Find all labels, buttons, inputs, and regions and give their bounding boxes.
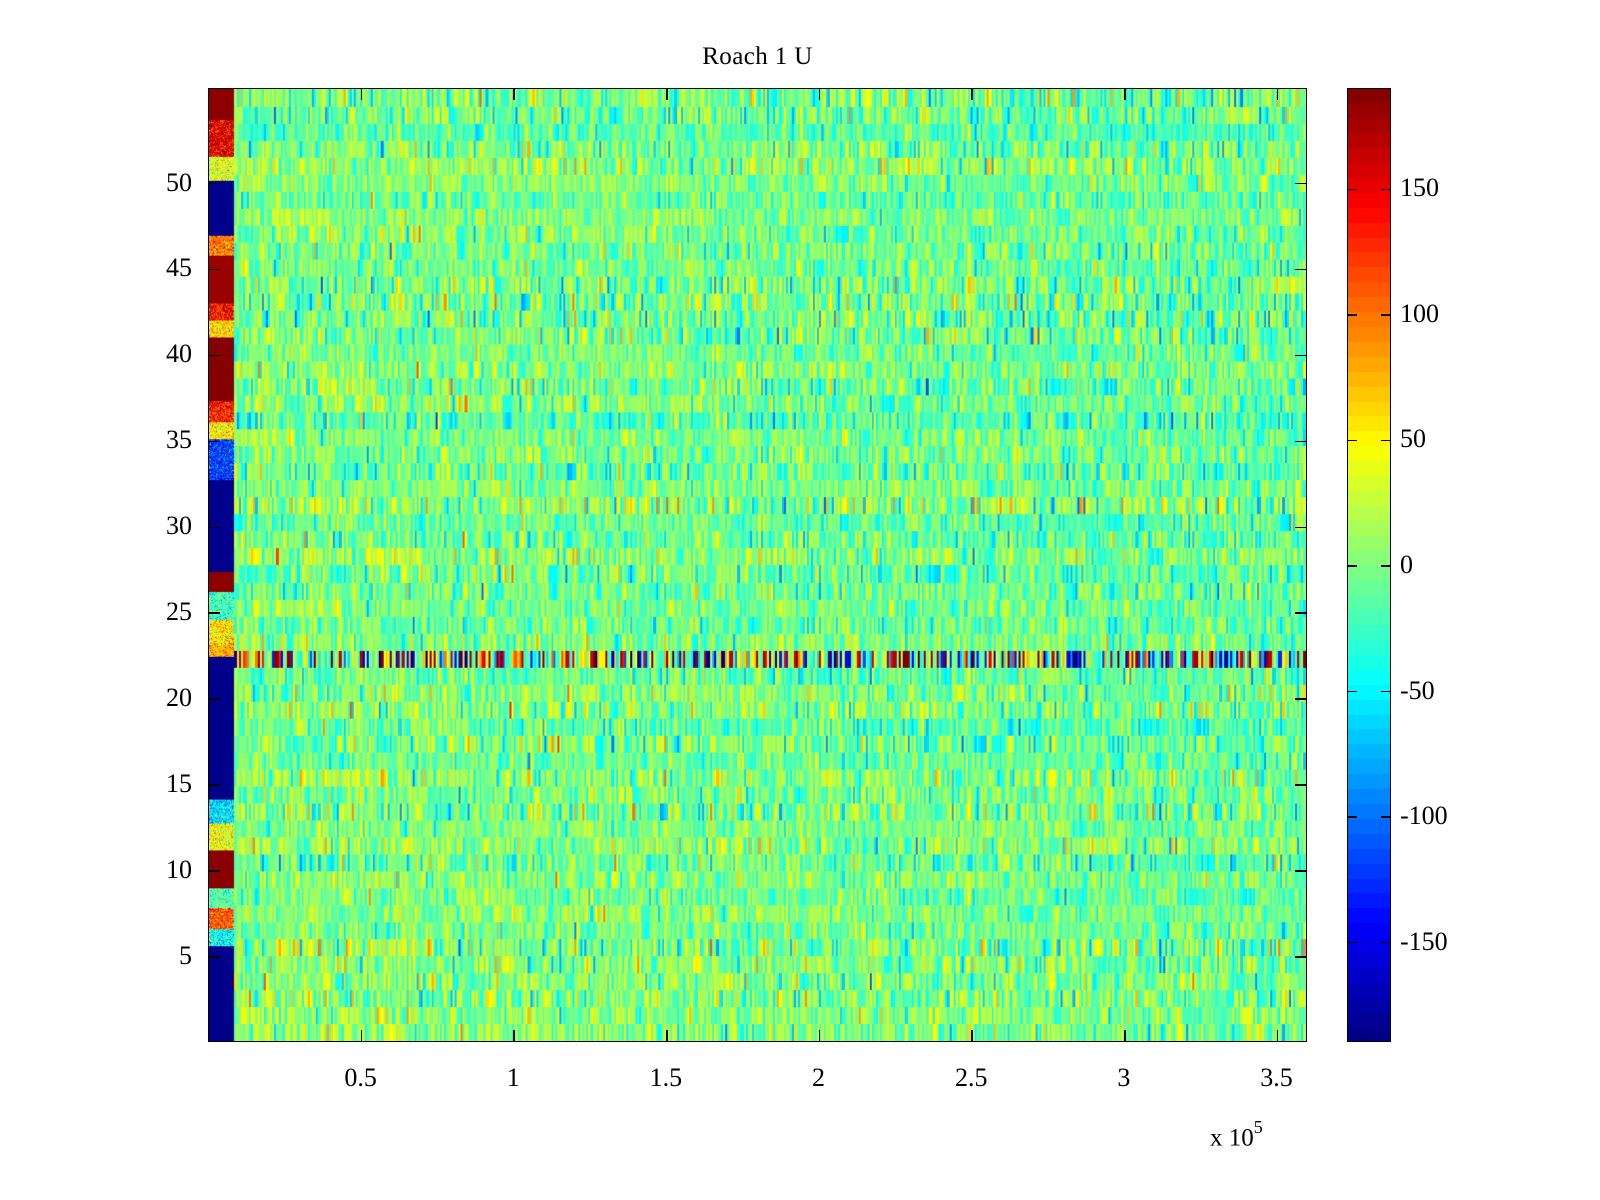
colorbar-tick-label: 50 [1400,426,1426,452]
x-axis-tick-label: 1 [468,1065,558,1091]
colorbar-tick-right [1381,816,1390,818]
y-axis-tick-right [1295,441,1306,443]
colorbar-tick [1348,314,1357,316]
figure-canvas: Roach 1 U 5101520253035404550 0.511.522.… [0,0,1600,1200]
x-axis-tick-label: 3.5 [1231,1065,1321,1091]
colorbar-tick-right [1381,440,1390,442]
colorbar-tick-label: 100 [1400,301,1439,327]
x-axis-tick-top [1124,89,1126,100]
x-axis-tick-label: 2 [774,1065,864,1091]
y-axis-tick-right [1295,269,1306,271]
y-axis-tick-label: 35 [132,427,192,453]
colorbar[interactable] [1347,88,1391,1042]
heatmap-axes[interactable] [208,88,1307,1042]
x-axis-tick-label: 1.5 [621,1065,711,1091]
chart-title: Roach 1 U [208,42,1307,72]
colorbar-tick [1348,189,1357,191]
colorbar-tick-label: -50 [1400,678,1435,704]
y-axis-tick [209,355,220,357]
y-axis-tick-label: 40 [132,341,192,367]
colorbar-tick-label: 0 [1400,552,1413,578]
y-axis-tick-right [1295,870,1306,872]
x-axis-tick-label: 0.5 [316,1065,406,1091]
x-axis-tick-label: 2.5 [926,1065,1016,1091]
colorbar-tick-right [1381,189,1390,191]
colorbar-tick-label: -100 [1400,803,1448,829]
x-axis-tick-label: 3 [1079,1065,1169,1091]
y-axis-tick [209,527,220,529]
colorbar-tick [1348,942,1357,944]
x-axis-multiplier: x 105 [1210,1118,1263,1150]
x-axis-tick-top [1277,89,1279,100]
x-axis-multiplier-base: x 10 [1210,1124,1254,1151]
colorbar-tick-right [1381,942,1390,944]
y-axis-tick-label: 20 [132,685,192,711]
y-axis-tick-label: 10 [132,857,192,883]
y-axis-tick [209,698,220,700]
colorbar-tick-label: 150 [1400,175,1439,201]
y-axis-tick [209,441,220,443]
y-axis-tick-right [1295,784,1306,786]
colorbar-tick-right [1381,691,1390,693]
x-axis-multiplier-exponent: 5 [1254,1117,1263,1137]
x-axis-tick-top [513,89,515,100]
x-axis-tick-top [819,89,821,100]
colorbar-tick [1348,816,1357,818]
x-axis-tick [361,1030,363,1041]
y-axis-tick-right [1295,183,1306,185]
heatmap-image [209,89,1306,1041]
colorbar-tick-right [1381,314,1390,316]
x-axis-tick [1124,1030,1126,1041]
y-axis-tick-label: 25 [132,599,192,625]
y-axis-tick-label: 15 [132,771,192,797]
x-axis-tick [666,1030,668,1041]
x-axis-tick [1277,1030,1279,1041]
y-axis-tick-label: 30 [132,513,192,539]
y-axis-tick-right [1295,956,1306,958]
colorbar-tick [1348,691,1357,693]
x-axis-tick [819,1030,821,1041]
y-axis-tick-right [1295,612,1306,614]
y-axis-tick-label: 5 [132,943,192,969]
colorbar-tick [1348,565,1357,567]
colorbar-tick-label: -150 [1400,929,1448,955]
colorbar-tick [1348,440,1357,442]
y-axis-tick [209,870,220,872]
y-axis-tick [209,612,220,614]
y-axis-tick [209,269,220,271]
y-axis-tick-right [1295,355,1306,357]
x-axis-tick-top [666,89,668,100]
x-axis-tick-top [361,89,363,100]
x-axis-tick [971,1030,973,1041]
y-axis-tick-label: 50 [132,170,192,196]
x-axis-tick [513,1030,515,1041]
y-axis-tick [209,183,220,185]
y-axis-tick-right [1295,527,1306,529]
x-axis-tick-top [971,89,973,100]
y-axis-tick-label: 45 [132,255,192,281]
y-axis-tick [209,784,220,786]
colorbar-tick-right [1381,565,1390,567]
y-axis-tick-right [1295,698,1306,700]
y-axis-tick [209,956,220,958]
